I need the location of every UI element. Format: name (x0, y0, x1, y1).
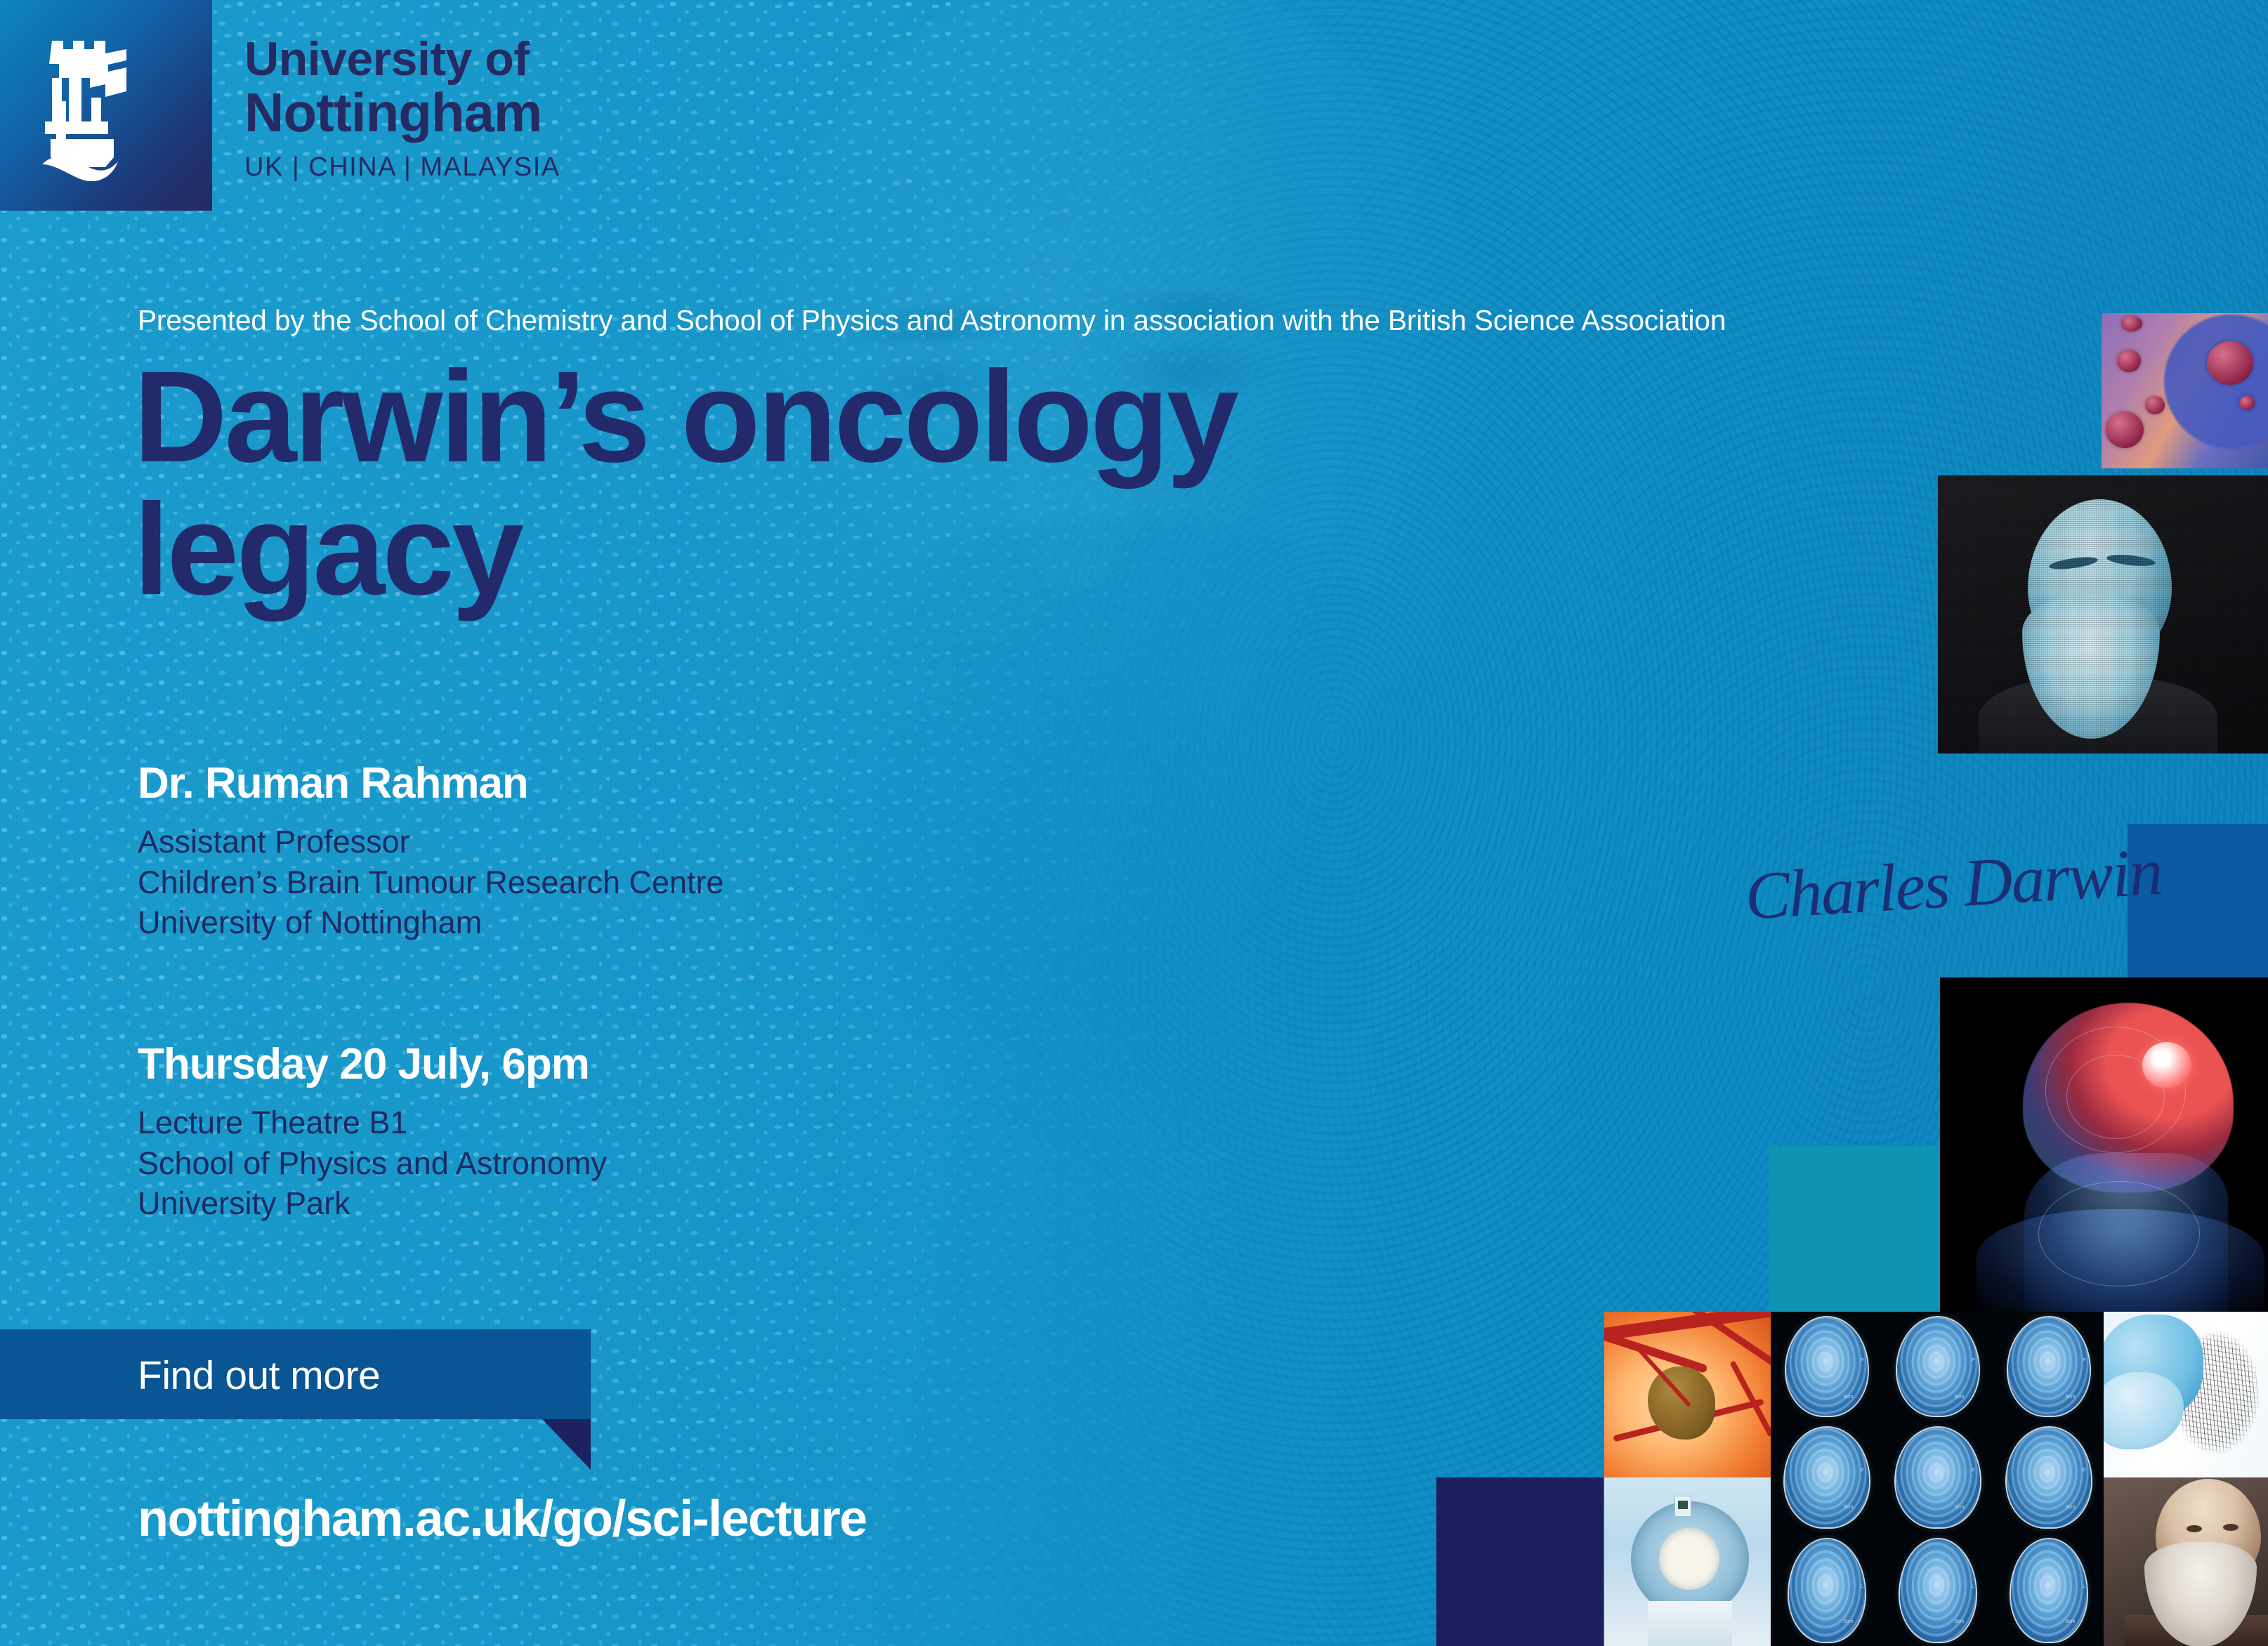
darwin-photograph-image (2104, 1477, 2268, 1646)
mri-brain-scans-image: P 5cm P 5cm P 5cm P 5cm P 5cm P 5cm (1771, 1312, 2104, 1646)
logo-line-university: University of (244, 37, 561, 82)
website-url[interactable]: nottingham.ac.uk/go/sci-lecture (138, 1490, 867, 1548)
mri-scanner-image (1604, 1477, 1771, 1646)
title-line-1: Darwin’s oncology (133, 351, 1236, 484)
venue-line-1: Lecture Theatre B1 (138, 1102, 607, 1143)
laboratory-anatomy-image (2104, 1312, 2268, 1477)
teal-colour-block (1769, 1146, 1940, 1312)
event-datetime: Thursday 20 July, 6pm (138, 1039, 589, 1089)
navy-colour-block (1436, 1477, 1604, 1646)
speaker-name: Dr. Ruman Rahman (138, 758, 528, 808)
logo-line-nottingham: Nottingham (244, 86, 561, 139)
speaker-centre: Children’s Brain Tumour Research Centre (138, 862, 724, 903)
title-line-2: legacy (133, 484, 1236, 617)
university-logo-block (0, 0, 212, 211)
find-out-more-label[interactable]: Find out more (138, 1352, 380, 1399)
speaker-role: Assistant Professor (138, 822, 724, 862)
event-venue: Lecture Theatre B1 School of Physics and… (138, 1102, 607, 1224)
banner-tail-shape (542, 1419, 591, 1470)
teal-strip-block (1771, 1292, 1940, 1312)
cancer-cells-image (2102, 313, 2268, 468)
nottingham-castle-tower-icon (37, 34, 170, 181)
speaker-institution: University of Nottingham (138, 902, 724, 943)
venue-line-3: University Park (138, 1183, 607, 1224)
background-darwin-watermark (618, 0, 1672, 1320)
venue-line-2: School of Physics and Astronomy (138, 1143, 607, 1184)
presented-by-line: Presented by the School of Chemistry and… (138, 304, 1726, 337)
speaker-affiliation: Assistant Professor Children’s Brain Tum… (138, 822, 724, 943)
university-wordmark: University of Nottingham UK | CHINA | MA… (244, 37, 561, 180)
page-title: Darwin’s oncology legacy (133, 351, 1236, 616)
logo-line-campuses: UK | CHINA | MALAYSIA (244, 154, 561, 180)
tumour-blood-vessels-image (1604, 1312, 1771, 1477)
brain-tumour-xray-image (1940, 977, 2268, 1312)
lecture-poster: University of Nottingham UK | CHINA | MA… (0, 0, 2268, 1646)
darwin-engraving-image (1938, 475, 2268, 753)
